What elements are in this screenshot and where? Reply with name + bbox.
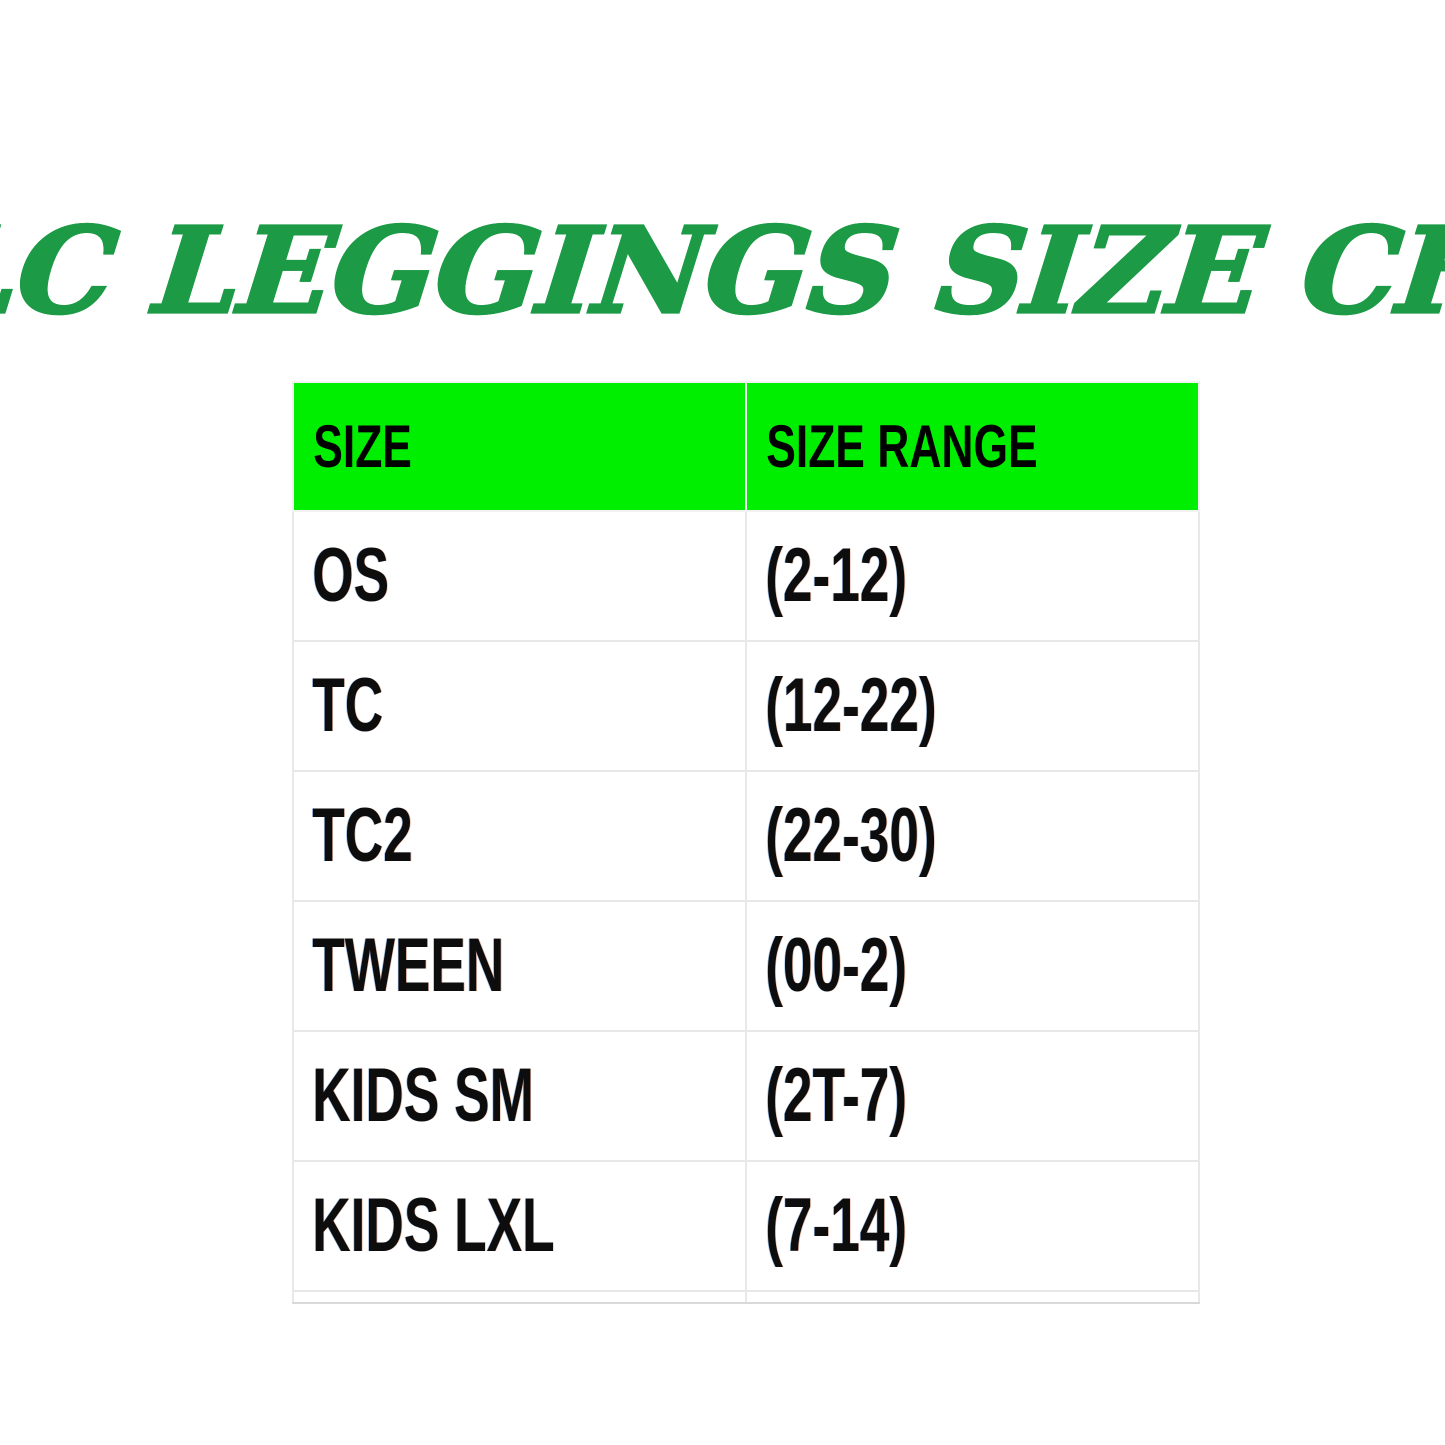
cell-size: KIDS SM [293, 1031, 746, 1161]
cell-size: KIDS LXL [293, 1161, 746, 1291]
cell-size-value: KIDS LXL [294, 1188, 610, 1264]
cell-size: TC [293, 641, 746, 771]
table-row: OS (2-12) [293, 511, 1199, 641]
cell-size-range-value: (7-14) [747, 1188, 1063, 1264]
cell-size-value: TC2 [294, 798, 610, 874]
column-header-size-label: SIZE [294, 417, 628, 477]
cell-size-empty [293, 1291, 746, 1303]
cell-size-range-empty [746, 1291, 1199, 1303]
table-row: TC (12-22) [293, 641, 1199, 771]
cell-size-range-value: (00-2) [747, 928, 1063, 1004]
column-header-size-range: SIZE RANGE [746, 382, 1199, 511]
cell-size-value: KIDS SM [294, 1058, 610, 1134]
cell-size-range: (12-22) [746, 641, 1199, 771]
column-header-size-range-label: SIZE RANGE [747, 417, 1081, 477]
cell-size-range: (2T-7) [746, 1031, 1199, 1161]
cell-size-range-value: (12-22) [747, 668, 1063, 744]
cell-size-range-value: (2-12) [747, 538, 1063, 614]
cell-size: TWEEN [293, 901, 746, 1031]
table-row: KIDS SM (2T-7) [293, 1031, 1199, 1161]
cell-size-range-value: (2T-7) [747, 1058, 1063, 1134]
page-title: GCLLC LEGGINGS SIZE CHART [0, 212, 1445, 330]
table-body: OS (2-12) TC (12-22) TC2 (22-3 [293, 511, 1199, 1303]
cell-size: OS [293, 511, 746, 641]
cell-size-range-value: (22-30) [747, 798, 1063, 874]
leggings-size-table: SIZE SIZE RANGE OS (2-12) TC [292, 381, 1200, 1304]
cell-size-range: (00-2) [746, 901, 1199, 1031]
column-header-size: SIZE [293, 382, 746, 511]
cell-size: TC2 [293, 771, 746, 901]
table-header-row: SIZE SIZE RANGE [293, 382, 1199, 511]
table-row: TWEEN (00-2) [293, 901, 1199, 1031]
cell-size-range: (22-30) [746, 771, 1199, 901]
table-row-stub [293, 1291, 1199, 1303]
cell-size-value: OS [294, 538, 610, 614]
cell-size-value: TC [294, 668, 610, 744]
cell-size-range: (2-12) [746, 511, 1199, 641]
title-container: GCLLC LEGGINGS SIZE CHART [0, 196, 1445, 346]
table-row: KIDS LXL (7-14) [293, 1161, 1199, 1291]
table-row: TC2 (22-30) [293, 771, 1199, 901]
cell-size-range: (7-14) [746, 1161, 1199, 1291]
cell-size-value: TWEEN [294, 928, 610, 1004]
size-chart-image: GCLLC LEGGINGS SIZE CHART SIZE SIZE RANG… [0, 0, 1445, 1445]
table-header: SIZE SIZE RANGE [293, 382, 1199, 511]
